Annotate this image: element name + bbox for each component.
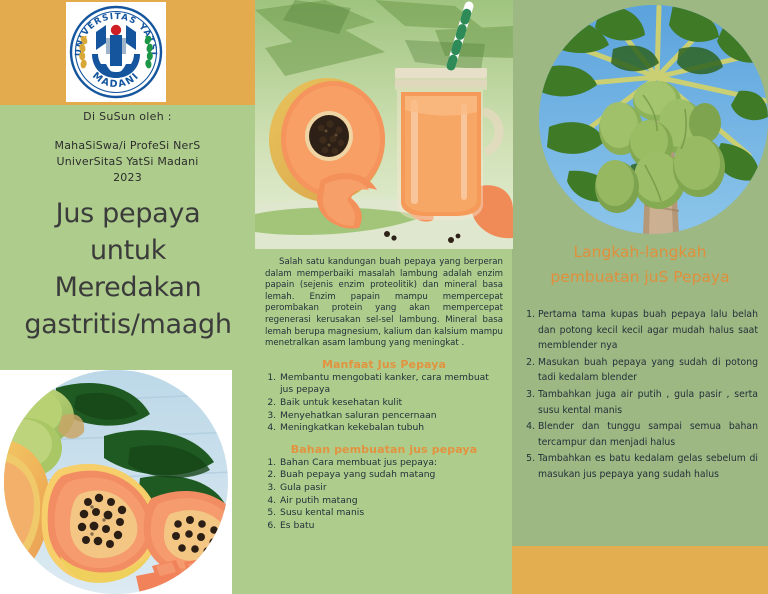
title-line-1: Jus pepaya [4,195,252,232]
list-item: Meningkatkan kekebalan tubuh [279,422,503,435]
sliced-papaya-photo [0,370,232,594]
list-item: Tambahkan juga air putih , gula pasir , … [538,387,758,418]
list-item: Gula pasir [279,482,503,495]
benefits-list: Membantu mengobati kanker, cara membuat … [263,372,505,435]
steps-list: Pertama tama kupas buah pepaya lalu bela… [520,307,758,483]
list-item: Menyehatkan saluran pencernaan [279,410,503,423]
list-item: Air putih matang [279,495,503,508]
list-item: Membantu mengobati kanker, cara membuat … [279,372,503,397]
bottom-right-orange-band [512,546,768,594]
steps-heading-line-1: Langkah-langkah [512,240,768,265]
list-item: Masukan buah pepaya yang sudah di potong… [538,355,758,386]
list-item: Buah pepaya yang sudah matang [279,469,503,482]
list-item: Tambahkan es batu kedalam gelas sebelum … [538,451,758,482]
list-item: Bahan Cara membuat jus pepaya: [279,457,503,470]
papaya-tree-photo [539,5,768,234]
benefits-heading: Manfaat Jus Pepaya [263,358,505,371]
credits-block: Di SuSun oleh : MahaSiSwa/i ProfeSi NerS… [0,110,255,186]
list-item: Blender dan tunggu sampai semua bahan te… [538,419,758,450]
credit-line-2: UniverSitaS YatSi Madani [0,154,255,170]
credit-line-3: 2023 [0,170,255,186]
middle-column-content: Salah satu kandungan buah pepaya yang be… [255,249,512,594]
papaya-tree-illustration [539,5,768,234]
university-logo: UNIVERSITAS YATSI MADANI [66,2,166,102]
list-item: Es batu [279,520,503,533]
title-line-4: gastritis/maagh [4,306,252,343]
steps-heading-line-2: pembuatan juS Pepaya [512,265,768,290]
papaya-juice-photo [255,0,513,249]
ingredients-list: Bahan Cara membuat jus pepaya: Buah pepa… [263,457,505,533]
list-item: Susu kental manis [279,507,503,520]
list-item: Baik untuk kesehatan kulit [279,397,503,410]
list-item: Pertama tama kupas buah pepaya lalu bela… [538,307,758,354]
intro-paragraph: Salah satu kandungan buah pepaya yang be… [265,257,503,350]
poster-canvas: UNIVERSITAS YATSI MADANI [0,0,768,594]
credit-lead-line: Di SuSun oleh : [0,110,255,123]
sliced-papaya-illustration [0,370,232,594]
poster-title: Jus pepaya untuk Meredakan gastritis/maa… [4,195,252,343]
title-line-3: Meredakan [4,269,252,306]
credit-line-1: MahaSiSwa/i ProfeSi NerS [0,138,255,154]
steps-content: Pertama tama kupas buah pepaya lalu bela… [512,307,768,484]
papaya-juice-illustration [255,0,513,249]
title-line-2: untuk [4,232,252,269]
steps-heading: Langkah-langkah pembuatan juS Pepaya [512,240,768,290]
ingredients-heading: Bahan pembuatan jus pepaya [263,443,505,456]
logo-emblem-icon: UNIVERSITAS YATSI MADANI [66,2,166,102]
